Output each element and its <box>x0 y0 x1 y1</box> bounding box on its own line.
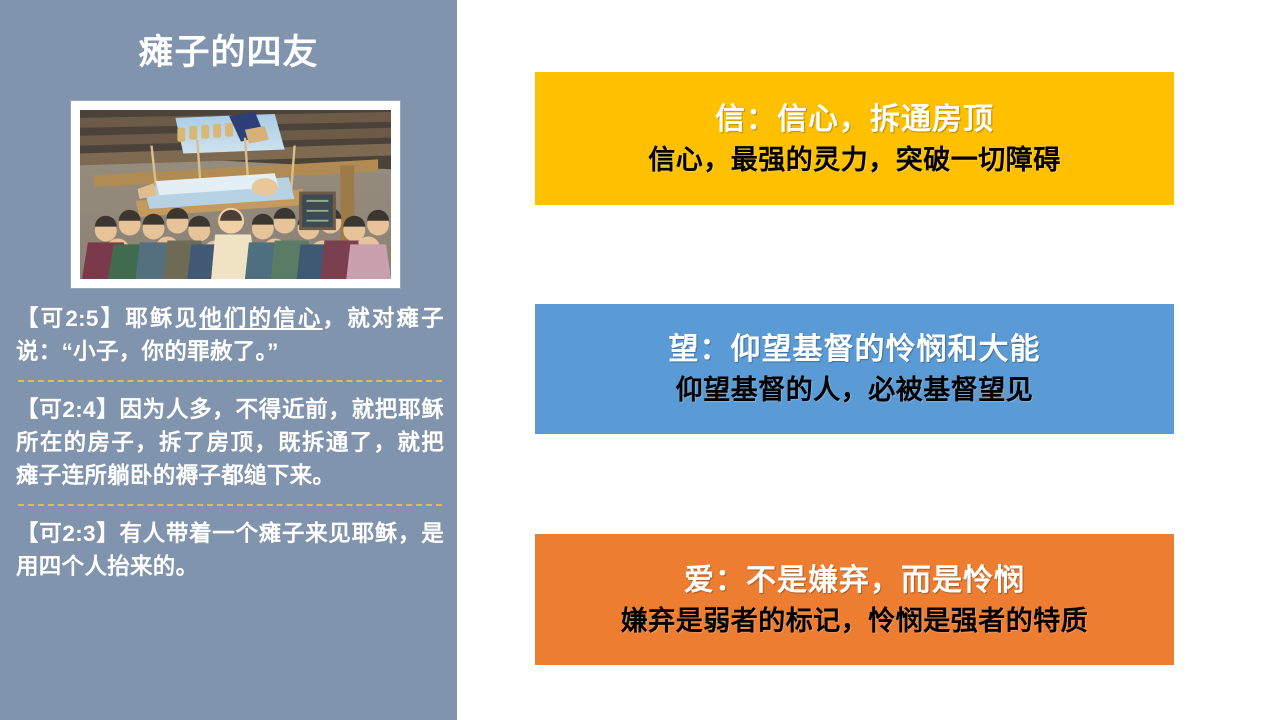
verse-text-before: 耶稣见 <box>125 306 199 331</box>
verse-reference: 【可2:4】 <box>16 397 119 422</box>
verse-list: 【可2:5】耶稣见他们的信心，就对瘫子说：“小子，你的罪赦了。” 【可2:4】因… <box>16 302 444 583</box>
banner-faith-subheading: 信心，最强的灵力，突破一切障碍 <box>648 141 1061 179</box>
verse-reference: 【可2:3】 <box>16 521 119 546</box>
illustration-svg <box>80 110 391 279</box>
page-title: 瘫子的四友 <box>0 30 457 76</box>
figure-frame <box>70 100 401 289</box>
banner-love-heading: 爱：不是嫌弃，而是怜悯 <box>684 560 1025 602</box>
banner-hope-subheading: 仰望基督的人，必被基督望见 <box>676 371 1034 409</box>
banner-hope-heading: 望：仰望基督的怜悯和大能 <box>669 329 1041 371</box>
verse-divider <box>18 380 442 382</box>
banner-faith-heading: 信：信心，拆通房顶 <box>715 99 994 141</box>
verse-reference: 【可2:5】 <box>16 306 125 331</box>
verse-mark-2-3: 【可2:3】有人带着一个瘫子来见耶稣，是用四个人抬来的。 <box>16 517 444 583</box>
verse-divider <box>18 504 442 506</box>
banner-hope: 望：仰望基督的怜悯和大能 仰望基督的人，必被基督望见 <box>535 304 1174 434</box>
banner-love: 爱：不是嫌弃，而是怜悯 嫌弃是弱者的标记，怜悯是强者的特质 <box>535 534 1174 665</box>
banner-love-subheading: 嫌弃是弱者的标记，怜悯是强者的特质 <box>621 602 1089 640</box>
verse-emphasis: 他们的信心 <box>199 306 322 331</box>
banner-faith: 信：信心，拆通房顶 信心，最强的灵力，突破一切障碍 <box>535 72 1174 205</box>
verse-mark-2-5: 【可2:5】耶稣见他们的信心，就对瘫子说：“小子，你的罪赦了。” <box>16 302 444 368</box>
sidebar-panel: 瘫子的四友 <box>0 0 457 720</box>
paralytic-lowered-through-roof-illustration <box>80 110 391 279</box>
verse-mark-2-4: 【可2:4】因为人多，不得近前，就把耶稣所在的房子，拆了房顶，既拆通了，就把瘫子… <box>16 393 444 492</box>
